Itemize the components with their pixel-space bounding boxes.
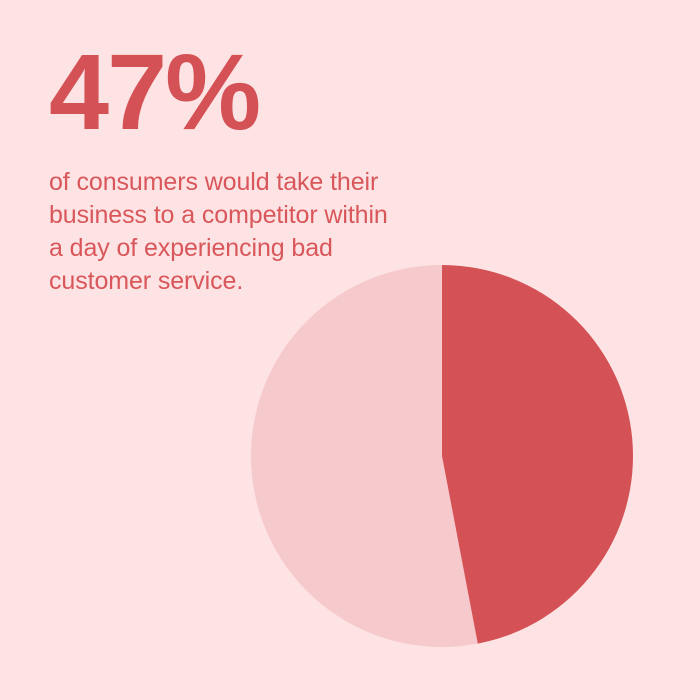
pie-slice-would-switch <box>442 265 633 644</box>
pie-chart-svg <box>251 265 633 647</box>
pie-chart <box>251 265 633 647</box>
statistic-value: 47% <box>49 44 479 139</box>
statistic-text-block: 47% of consumers would take their busine… <box>49 44 479 298</box>
infographic-canvas: 47% of consumers would take their busine… <box>0 0 700 700</box>
